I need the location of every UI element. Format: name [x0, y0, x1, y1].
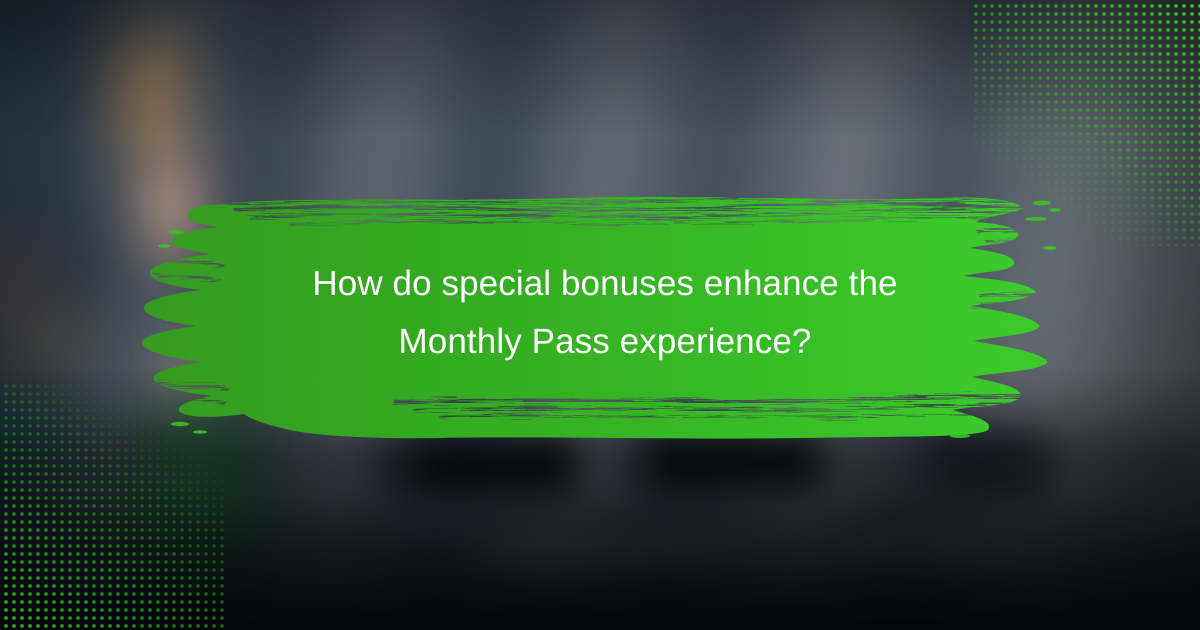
headline-text: How do special bonuses enhance the Month…	[190, 255, 1020, 371]
share-card-canvas: How do special bonuses enhance the Month…	[0, 0, 1200, 630]
